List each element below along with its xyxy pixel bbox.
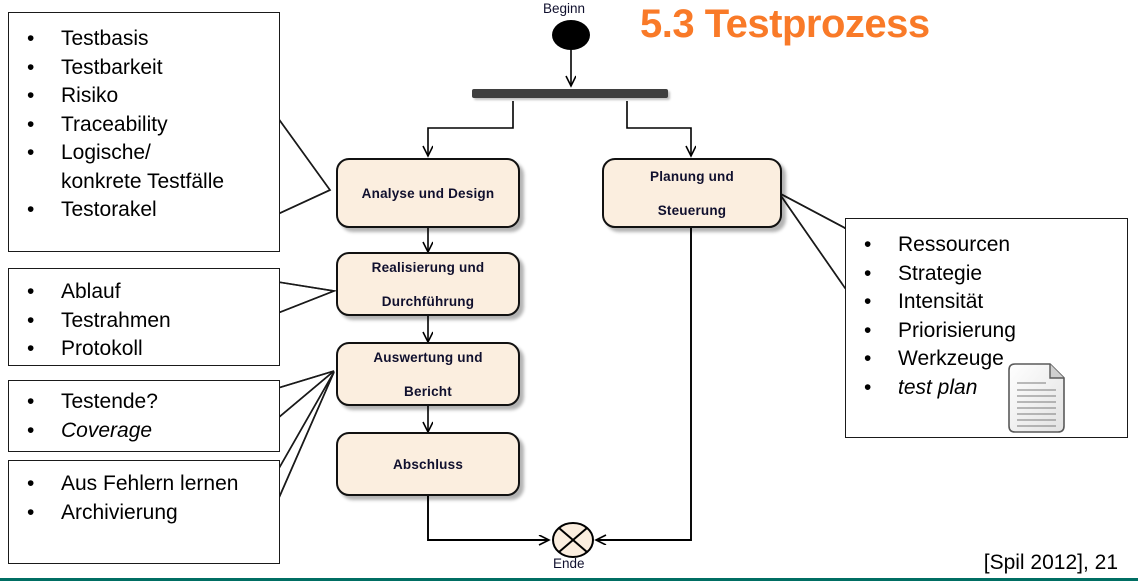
list-item: •Intensität xyxy=(846,288,1127,317)
list-item: •Testende? xyxy=(9,388,279,417)
list-item: •Testorakel xyxy=(9,196,279,225)
bullet-icon: • xyxy=(27,196,34,225)
source-citation: [Spil 2012], 21 xyxy=(984,551,1118,575)
list-item: •Ablauf xyxy=(9,278,279,307)
end-node-label: Ende xyxy=(553,556,585,571)
bullet-icon: • xyxy=(864,345,871,374)
bullet-icon: • xyxy=(864,317,871,346)
bullet-icon: • xyxy=(27,499,34,528)
callout-list: •Testbasis •Testbarkeit •Risiko •Traceab… xyxy=(9,13,279,225)
activity-abschluss[interactable]: Abschluss xyxy=(336,432,520,496)
activity-realisierung-und-durchfuehrung[interactable]: Realisierung undDurchführung xyxy=(336,252,520,316)
callout-list: •Ressourcen •Strategie •Intensität •Prio… xyxy=(846,219,1127,402)
activity-auswertung-und-bericht[interactable]: Auswertung undBericht xyxy=(336,342,520,406)
document-icon xyxy=(1004,359,1072,437)
footer-accent-bar xyxy=(0,578,1138,581)
slide-canvas: 5.3 Testprozess xyxy=(0,0,1138,586)
callout-analyse-design-notes: •Testbasis •Testbarkeit •Risiko •Traceab… xyxy=(8,12,280,252)
bullet-icon: • xyxy=(27,417,34,446)
list-item: •Testrahmen xyxy=(9,307,279,336)
bullet-icon: • xyxy=(27,388,34,417)
list-item: •Priorisierung xyxy=(846,317,1127,346)
bullet-icon: • xyxy=(864,260,871,289)
bullet-icon: • xyxy=(27,278,34,307)
bullet-icon: • xyxy=(864,374,871,403)
bullet-icon: • xyxy=(864,231,871,260)
bullet-icon: • xyxy=(27,25,34,54)
list-item: •Werkzeuge xyxy=(846,345,1127,374)
list-item: •Coverage xyxy=(9,417,279,446)
activity-analyse-und-design[interactable]: Analyse und Design xyxy=(336,158,520,228)
bullet-icon: • xyxy=(27,139,34,168)
list-item: •Archivierung xyxy=(9,499,279,528)
bullet-icon: • xyxy=(27,470,34,499)
start-node xyxy=(552,20,590,50)
callout-abschluss-notes: •Aus Fehlern lernen •Archivierung xyxy=(8,460,280,564)
list-item: •Protokoll xyxy=(9,335,279,364)
callout-auswertung-notes: •Testende? •Coverage xyxy=(8,380,280,452)
list-item-continuation: •konkrete Testfälle xyxy=(9,168,279,197)
bullet-icon: • xyxy=(27,54,34,83)
bullet-icon: • xyxy=(27,82,34,111)
callout-list: •Ablauf •Testrahmen •Protokoll xyxy=(9,269,279,364)
start-node-label: Beginn xyxy=(543,1,585,16)
list-item: •Risiko xyxy=(9,82,279,111)
bullet-icon: • xyxy=(27,111,34,140)
fork-bar xyxy=(472,89,668,98)
callout-list: •Aus Fehlern lernen •Archivierung xyxy=(9,461,279,527)
list-item: •Testbasis xyxy=(9,25,279,54)
callout-list: •Testende? •Coverage xyxy=(9,381,279,445)
list-item: •test plan xyxy=(846,374,1127,403)
list-item: •Strategie xyxy=(846,260,1127,289)
bullet-icon: • xyxy=(27,335,34,364)
list-item: •Ressourcen xyxy=(846,231,1127,260)
callout-realisierung-notes: •Ablauf •Testrahmen •Protokoll xyxy=(8,268,280,366)
list-item: •Testbarkeit xyxy=(9,54,279,83)
page-title: 5.3 Testprozess xyxy=(640,2,930,47)
list-item: •Aus Fehlern lernen xyxy=(9,470,279,499)
bullet-icon: • xyxy=(27,307,34,336)
list-item: •Logische/ xyxy=(9,139,279,168)
activity-planung-und-steuerung[interactable]: Planung undSteuerung xyxy=(602,158,782,228)
list-item: •Traceability xyxy=(9,111,279,140)
bullet-icon: • xyxy=(864,288,871,317)
callout-planung-notes: •Ressourcen •Strategie •Intensität •Prio… xyxy=(845,218,1128,438)
